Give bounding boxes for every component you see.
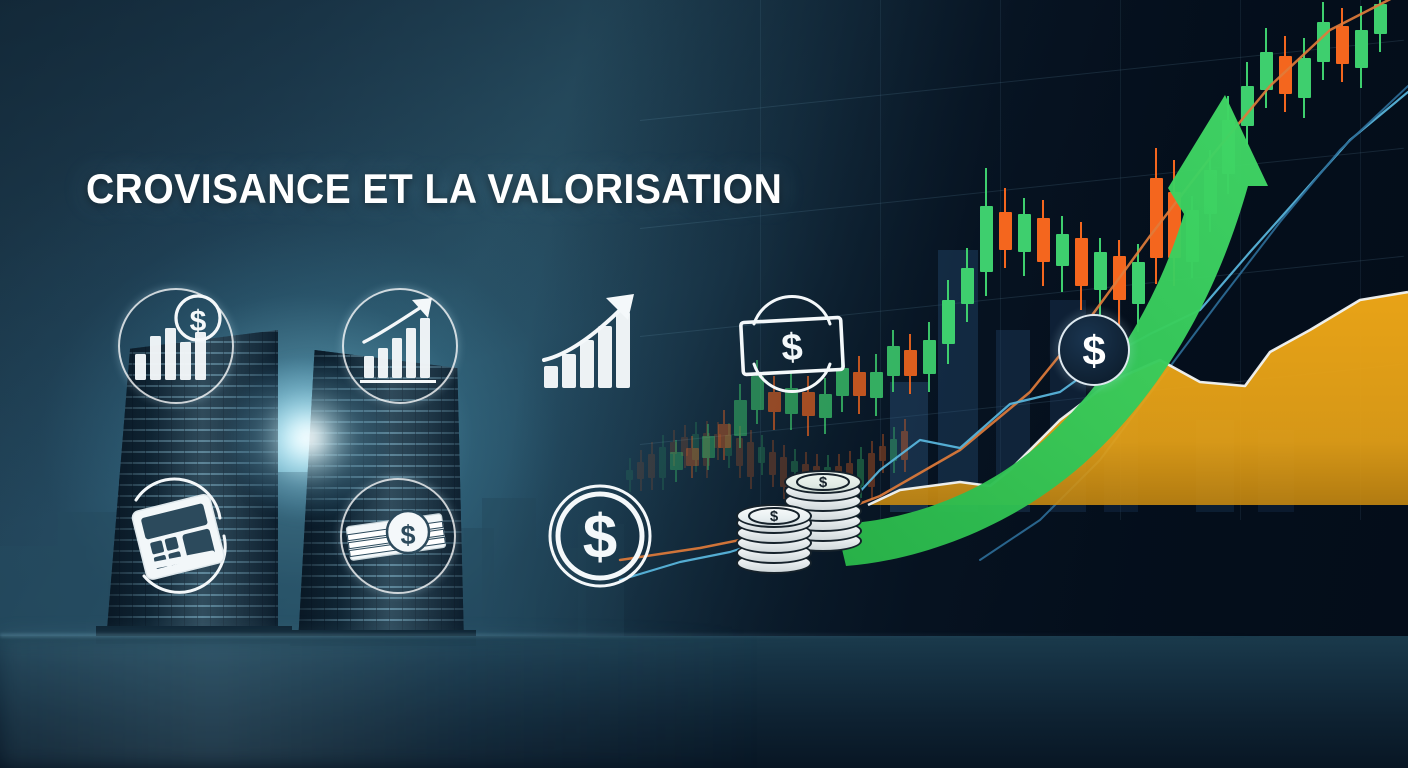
growth-bars-arrow-plain-icon[interactable]: [540, 292, 652, 396]
calculator-device-icon[interactable]: [116, 474, 240, 598]
page-title: CROVISANCE ET LA VALORISATION: [86, 168, 782, 210]
calculator-body: [131, 493, 226, 580]
growth-arrow-head: [412, 298, 432, 318]
svg-text:$: $: [819, 474, 828, 491]
svg-text:$: $: [190, 305, 207, 338]
dollar-coin-outline-icon[interactable]: $: [546, 482, 654, 590]
hero-banner: $ $: [0, 0, 1408, 768]
bar-chart-coin-icon[interactable]: $: [118, 288, 234, 404]
banknote-dollar-icon[interactable]: $: [728, 284, 856, 404]
svg-text:$: $: [400, 520, 415, 550]
cash-bills-coin-icon[interactable]: $: [336, 476, 460, 596]
coin-stacks-3d-icon[interactable]: $ $: [736, 470, 862, 576]
financial-icon-cluster: $: [0, 0, 1408, 768]
coin-top-dollar-icon: $: [784, 470, 862, 494]
svg-text:$: $: [583, 503, 617, 572]
svg-text:$: $: [780, 326, 803, 369]
svg-text:$: $: [770, 508, 779, 525]
coin-stack-front: $: [736, 504, 812, 576]
growth-arrow-curve: [364, 304, 426, 342]
growth-chart-arrow-icon[interactable]: [342, 288, 458, 404]
coin-front-dollar-icon: $: [736, 504, 812, 528]
